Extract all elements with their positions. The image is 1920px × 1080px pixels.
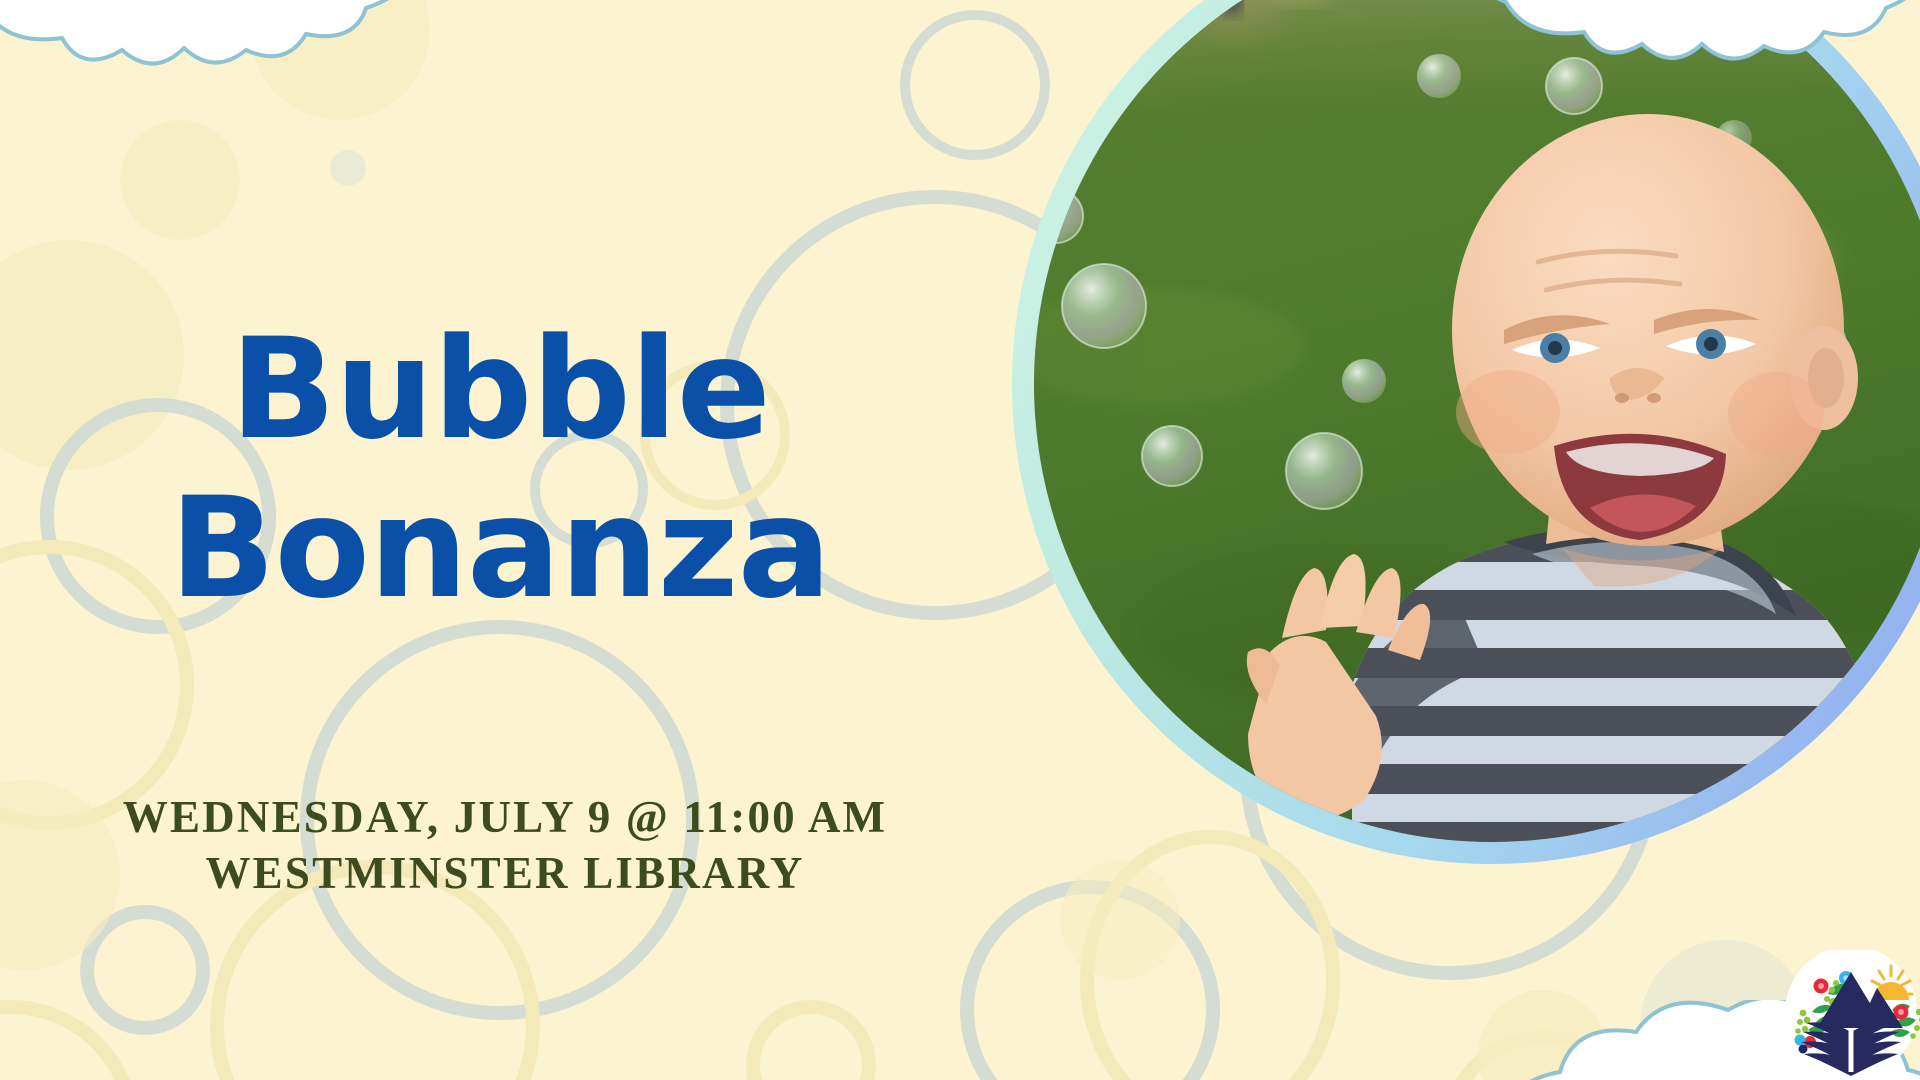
decor-bubble — [80, 905, 210, 1035]
poster-canvas: Bubble Bonanza WEDNESDAY, JULY 9 @ 11:00… — [0, 0, 1920, 1080]
poster-title: Bubble Bonanza — [0, 320, 1000, 618]
decor-bubble — [1080, 830, 1340, 1080]
westminster-library-logo — [1772, 950, 1920, 1080]
event-photo — [1012, 0, 1920, 864]
decor-bubble — [250, 0, 430, 120]
decor-bubble — [330, 150, 366, 186]
title-line-1: Bubble — [0, 320, 1000, 459]
event-datetime: WEDNESDAY, JULY 9 @ 11:00 AM — [0, 790, 1010, 846]
event-details: WEDNESDAY, JULY 9 @ 11:00 AM WESTMINSTER… — [0, 790, 1010, 902]
decor-bubble — [0, 1000, 140, 1080]
cloud-shape — [0, 0, 440, 102]
title-line-2: Bonanza — [0, 479, 1000, 618]
decor-bubble — [1060, 860, 1180, 980]
library-logo-icon — [1772, 950, 1920, 1080]
decor-bubble — [120, 120, 240, 240]
decor-bubble — [1440, 1030, 1650, 1080]
cloud-top-left — [0, 0, 440, 102]
decor-bubble — [1478, 990, 1608, 1080]
decor-bubble — [746, 1000, 876, 1080]
event-location: WESTMINSTER LIBRARY — [0, 846, 1010, 902]
decor-bubble — [960, 880, 1220, 1080]
